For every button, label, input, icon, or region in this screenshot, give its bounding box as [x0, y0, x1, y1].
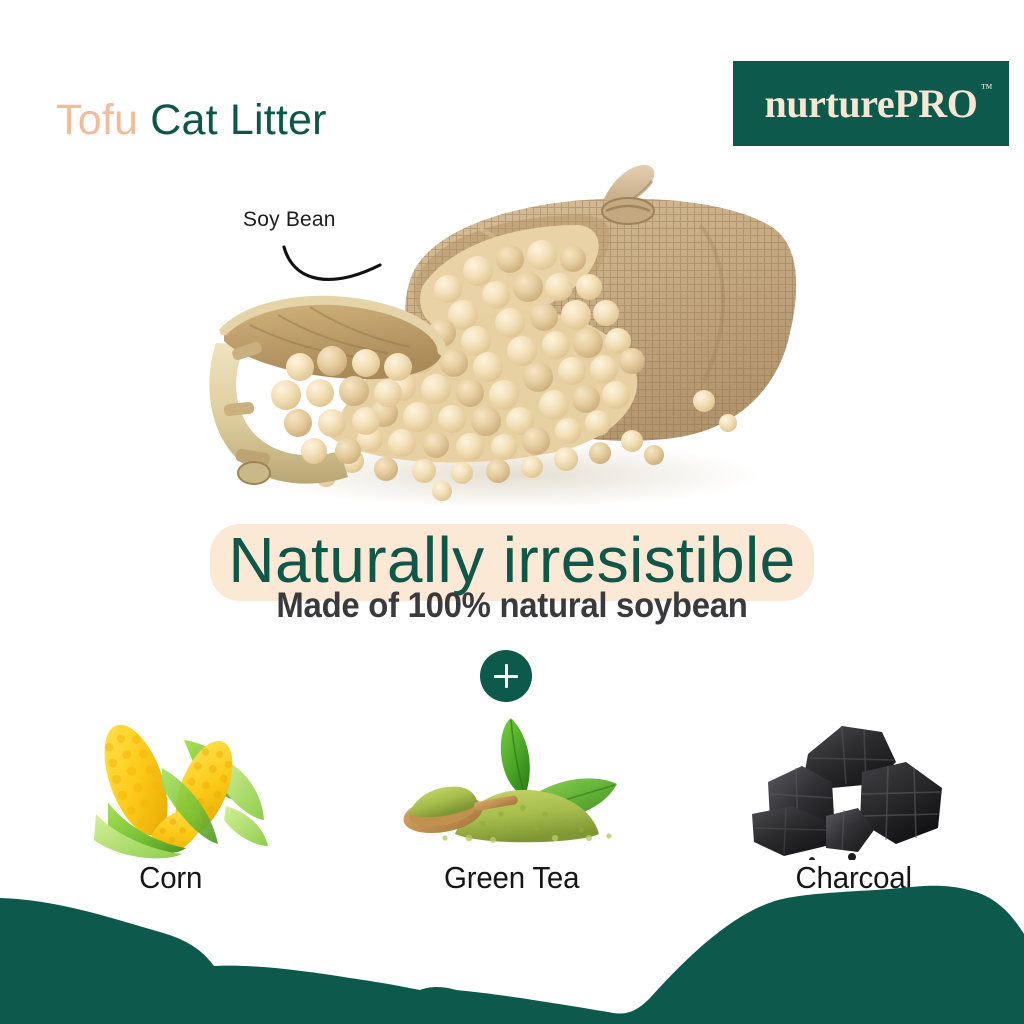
brand-logo-name: nurturePRO — [764, 81, 977, 126]
trademark-icon: ™ — [981, 82, 993, 94]
ingredient-row: Corn — [0, 700, 1024, 896]
page-title-litter: Cat Litter — [150, 96, 326, 144]
page-title: Tofu Cat Litter — [56, 96, 327, 145]
charcoal-icon — [683, 700, 1024, 860]
ingredient-charcoal: Charcoal — [683, 700, 1024, 896]
slogan-sub: Made of 100% natural soybean — [31, 586, 994, 626]
brand-logo-text: nurturePRO ™ — [764, 84, 977, 124]
soybean-hero-image — [180, 155, 820, 520]
green-tea-icon — [341, 700, 682, 860]
ingredient-corn: Corn — [0, 700, 341, 896]
ingredient-green-tea: Green Tea — [341, 700, 682, 896]
page-title-tofu: Tofu — [56, 96, 138, 144]
plus-icon — [480, 650, 532, 702]
corn-cobs-icon — [0, 700, 341, 860]
brand-logo: nurturePRO ™ — [733, 61, 1009, 146]
bottom-wave-decoration — [0, 884, 1024, 1024]
